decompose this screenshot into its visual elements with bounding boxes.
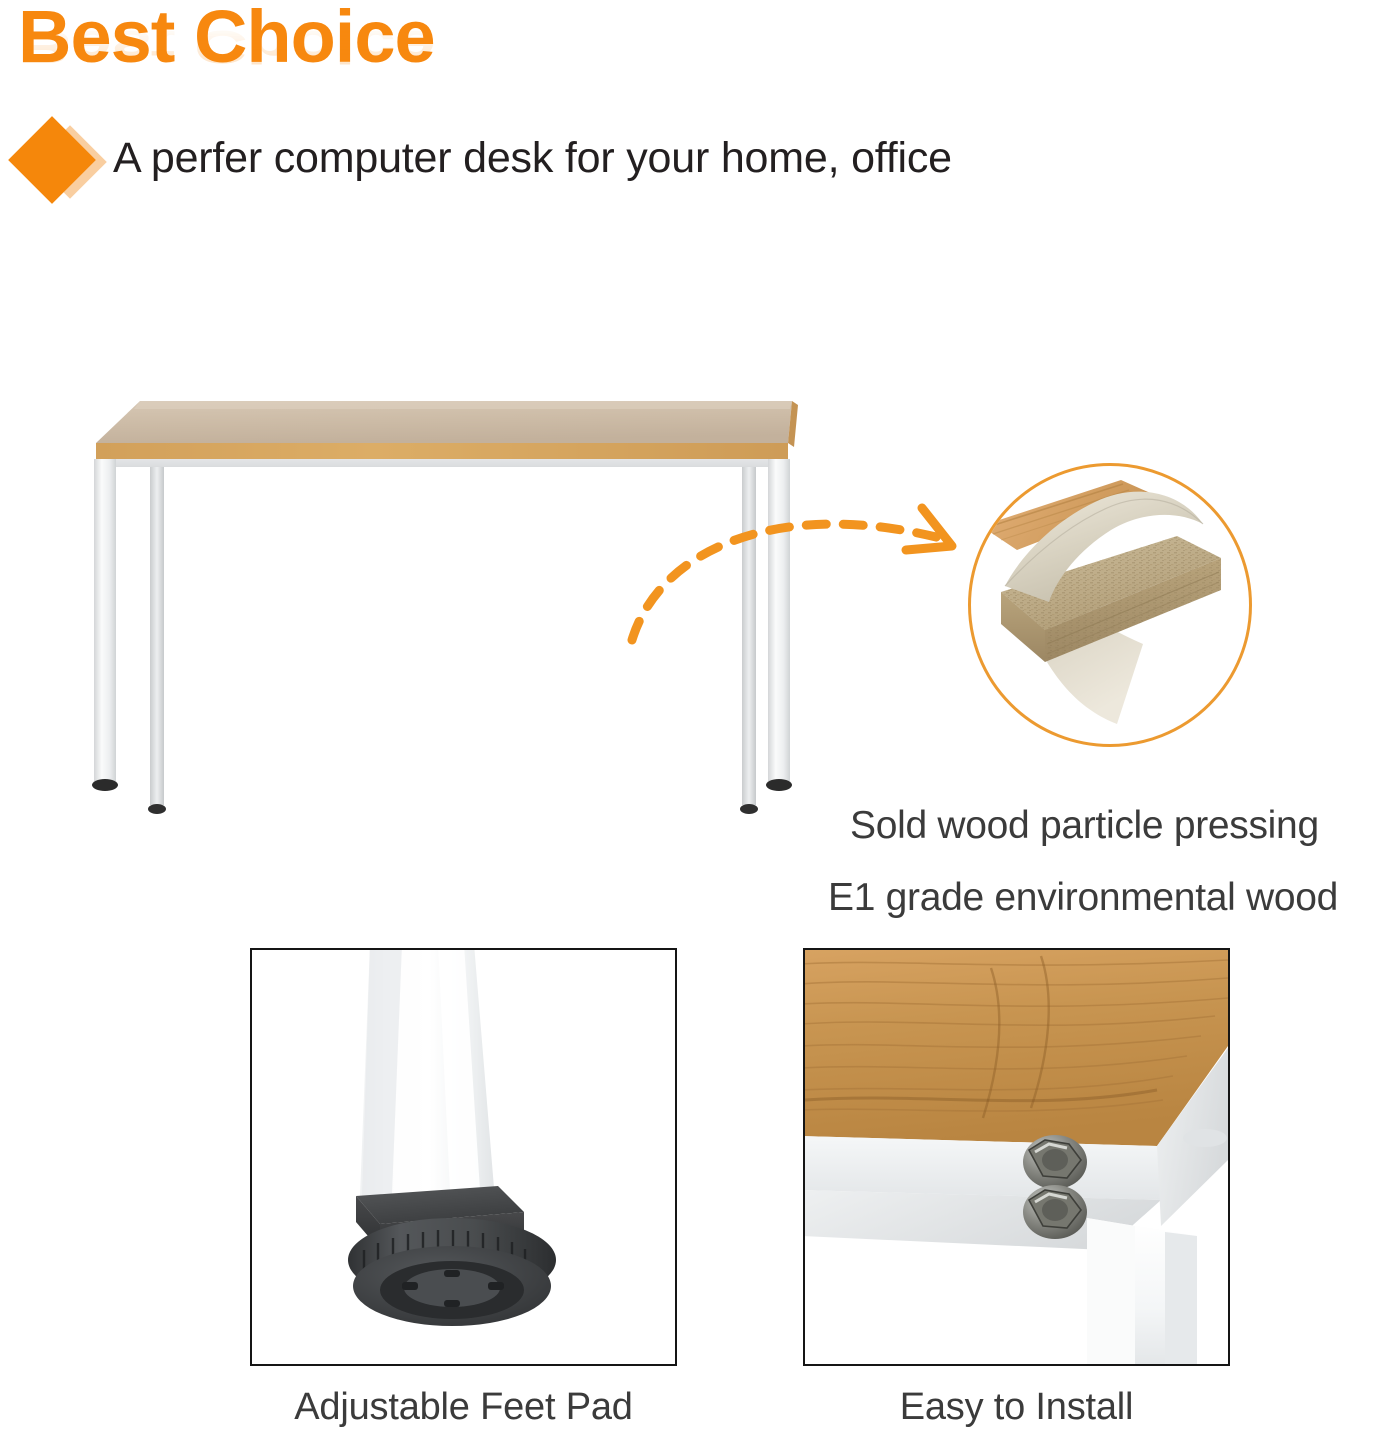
bolt-icon-lower	[1023, 1185, 1087, 1239]
page-subtitle: A perfer computer desk for your home, of…	[113, 134, 952, 183]
detail-panels-section: Adjustable Feet Pad Easy to Install	[0, 948, 1390, 1442]
foot-pad-icon	[92, 779, 118, 791]
desk-leg-front-left	[92, 459, 118, 791]
particle-board-inset-circle	[968, 463, 1252, 747]
adjustable-feet-pad-closeup	[252, 950, 675, 1364]
header-section: Best Choice Best Choice A perfer compute…	[0, 0, 1390, 215]
panel-easy-to-install	[803, 948, 1230, 1366]
panel-caption-easy-to-install: Easy to Install	[803, 1386, 1230, 1429]
page-title: Best Choice	[18, 0, 578, 78]
diamond-icon	[8, 116, 110, 208]
bolt-icon-upper	[1023, 1135, 1087, 1189]
dashed-curved-arrow-icon	[600, 490, 1000, 660]
desk-frame-bolts-closeup	[805, 950, 1228, 1364]
desk-leg-rear-left	[148, 465, 166, 814]
foot-pad-icon	[766, 779, 792, 791]
particle-board-with-laminate-veneer	[971, 466, 1249, 744]
panel-adjustable-feet-pad	[250, 948, 677, 1366]
hero-section: Sold wood particle pressing E1 grade env…	[0, 215, 1390, 915]
panel-caption-adjustable-feet-pad: Adjustable Feet Pad	[250, 1386, 677, 1429]
page-title-block: Best Choice Best Choice	[18, 0, 578, 114]
feature-line-2: E1 grade environmental wood	[828, 862, 1388, 934]
diamond-icon-front	[8, 116, 96, 204]
feature-text-block: Sold wood particle pressing E1 grade env…	[828, 790, 1388, 934]
feature-line-1: Sold wood particle pressing	[828, 790, 1388, 862]
